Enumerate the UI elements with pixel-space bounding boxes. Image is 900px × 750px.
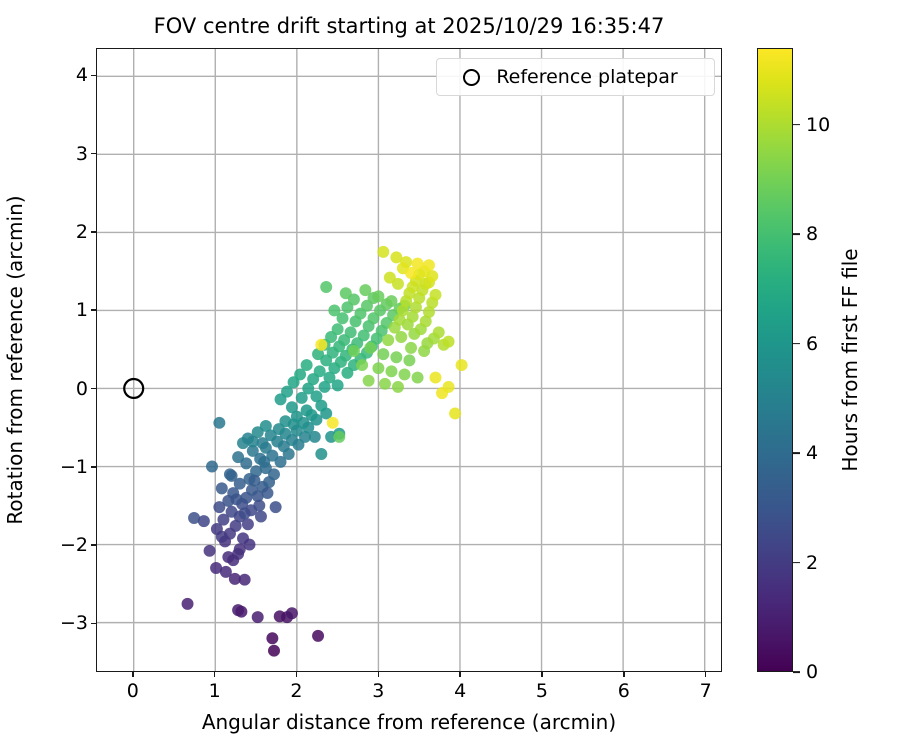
colorbar-tick-mark [793,343,800,345]
y-tick-label: 1 [76,299,88,321]
colorbar-tick-label: 6 [806,333,818,355]
colorbar-tick-label: 4 [806,442,818,464]
x-tick-label: 5 [536,680,548,702]
y-axis-ticks: −3−2−101234 [40,48,88,672]
colorbar-tick-mark [793,233,800,235]
x-tick-label: 6 [618,680,630,702]
y-tick-label: 3 [76,143,88,165]
page-title: FOV centre drift starting at 2025/10/29 … [96,14,722,38]
colorbar-label: Hours from first FF file [836,48,864,672]
x-tick-label: 7 [700,680,712,702]
colorbar-tick-mark [793,452,800,454]
colorbar-tick-label: 8 [806,223,818,245]
scatter-points [97,49,721,671]
x-axis-ticks: 01234567 [96,680,722,706]
colorbar-tick-mark [793,562,800,564]
colorbar-tick-mark [793,671,800,673]
y-axis-label: Rotation from reference (arcmin) [0,48,30,672]
y-tick-label: 2 [76,221,88,243]
x-tick-label: 2 [290,680,302,702]
y-tick-label: 0 [76,378,88,400]
plot-area [96,48,722,672]
colorbar-gradient [758,49,792,671]
reference-platepar-marker-icon [463,69,480,86]
y-tick-label: −3 [60,612,88,634]
figure-canvas: FOV centre drift starting at 2025/10/29 … [0,0,900,750]
x-tick-label: 4 [454,680,466,702]
y-tick-label: −1 [60,456,88,478]
y-tick-label: 4 [76,64,88,86]
legend: Reference platepar [436,58,715,96]
x-tick-label: 1 [209,680,221,702]
x-axis-label: Angular distance from reference (arcmin) [96,710,722,734]
colorbar-tick-label: 2 [806,552,818,574]
colorbar-tick-mark [793,124,800,126]
x-tick-label: 3 [372,680,384,702]
colorbar-tick-label: 0 [806,661,818,683]
y-tick-label: −2 [60,534,88,556]
x-tick-label: 0 [127,680,139,702]
colorbar-tick-label: 10 [806,114,830,136]
colorbar [757,48,793,672]
legend-label: Reference platepar [480,66,702,88]
